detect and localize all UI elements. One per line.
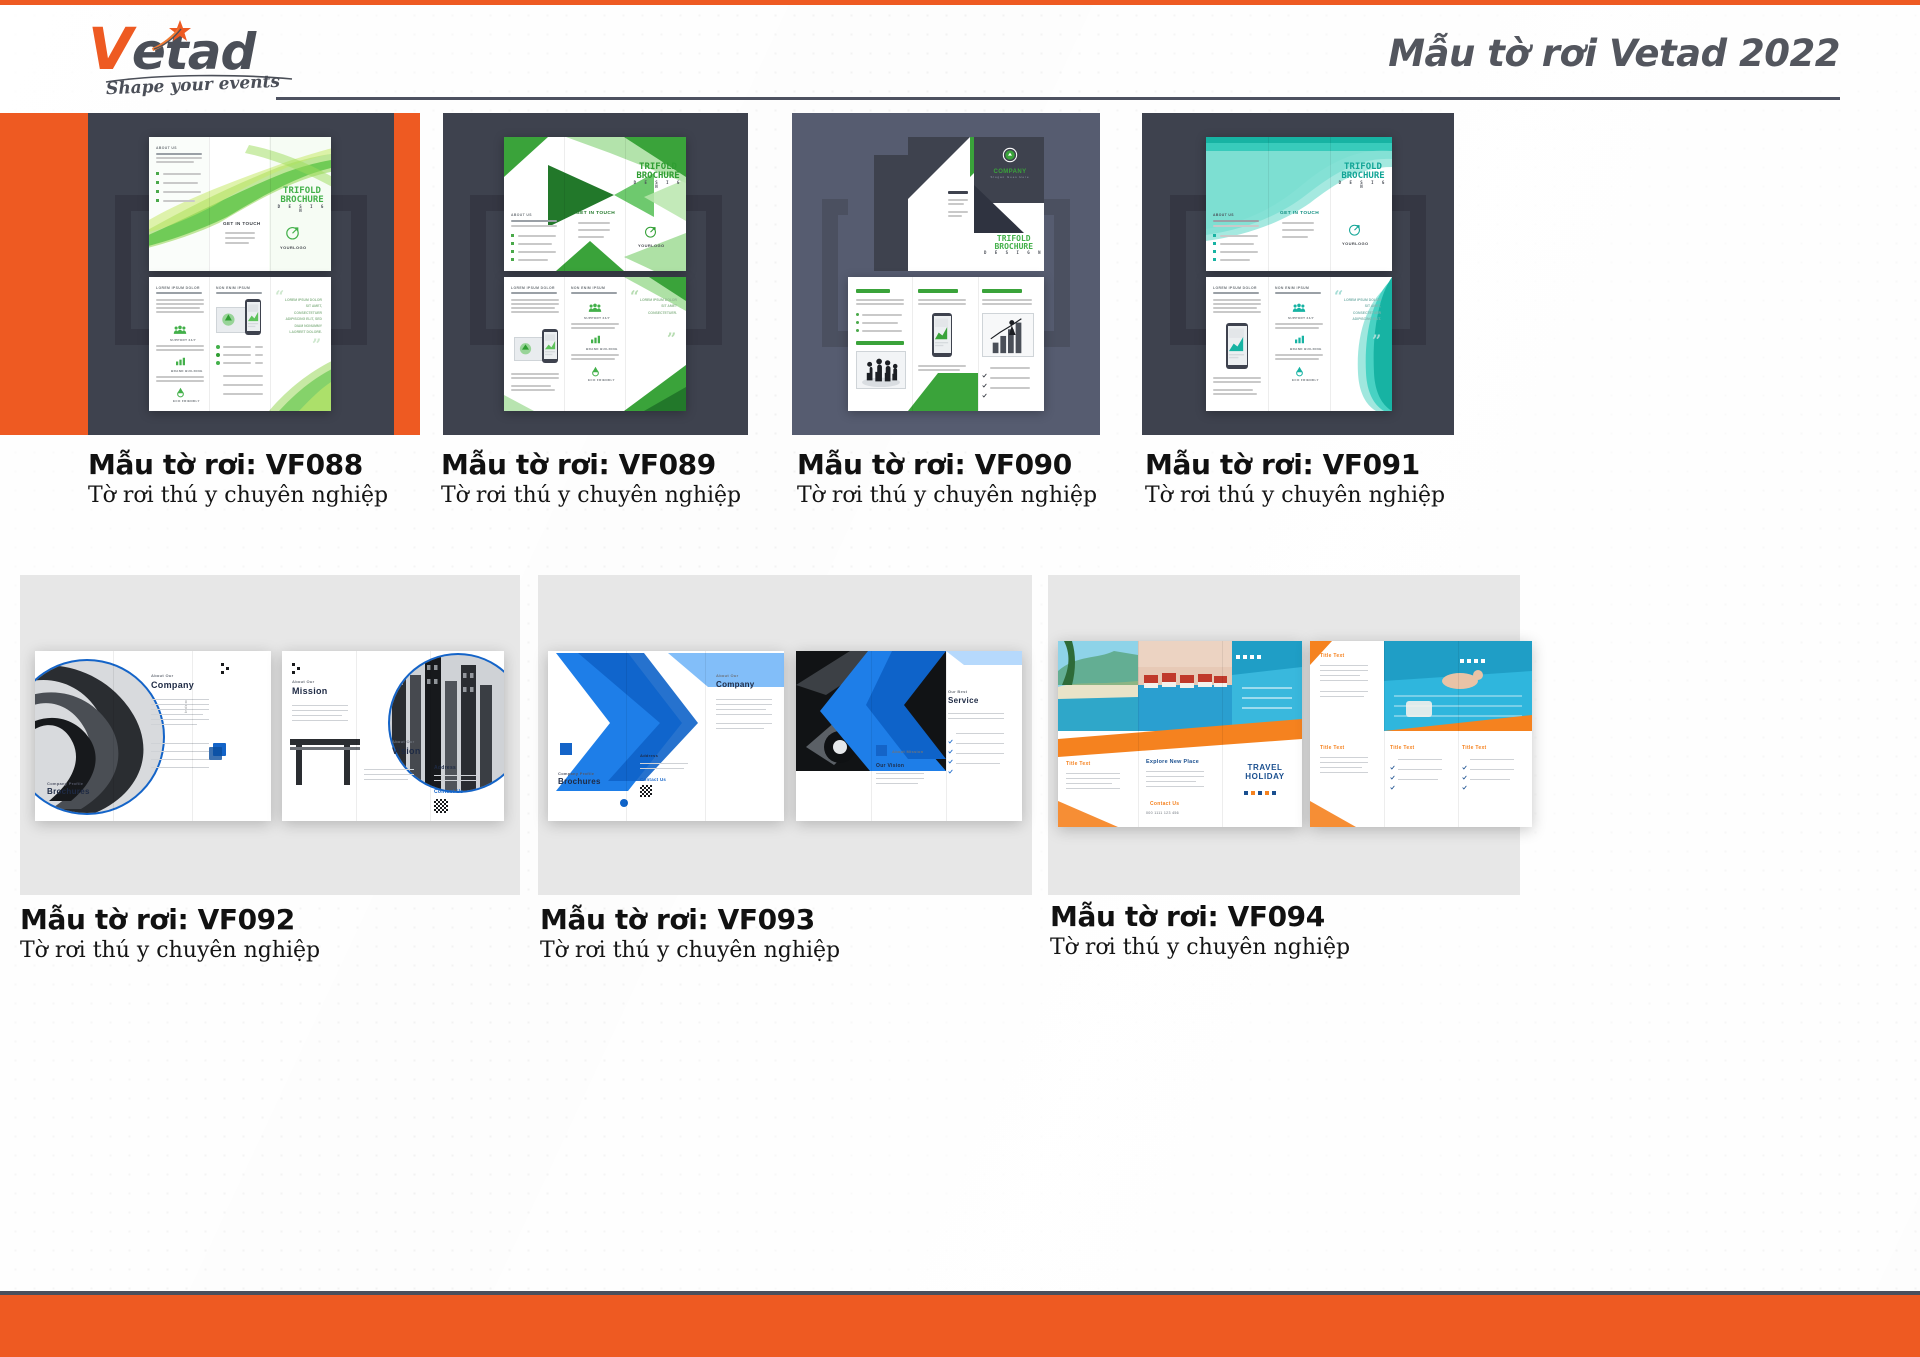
mission-label: About Mission [892, 749, 923, 754]
phone-mockup [932, 313, 952, 357]
brochure-left-spread: Title Text Explore New Place Contact Us … [1058, 641, 1302, 827]
qr-code [640, 785, 652, 797]
cta-label: GET IN TOUCH [1280, 211, 1319, 216]
bar-chart-photo [982, 313, 1034, 357]
title-text-1: Title Text [1066, 761, 1091, 767]
cta-label: GET IN TOUCH [223, 221, 261, 226]
page-title: Mẫu tờ rơi Vetad 2022 [1388, 32, 1840, 75]
brochure-front-sheet: ABOUT US TRIFOLD BROCHURE D E S I G N GE… [149, 137, 331, 271]
card-code: Mẫu tờ rơi: VF092 [20, 903, 320, 936]
company-heading: Company [716, 680, 755, 689]
check-icon [1390, 785, 1395, 790]
vision-heading: Our Vision [876, 763, 904, 769]
travel-photo-art [1058, 641, 1302, 827]
target-arrow-icon [285, 225, 300, 240]
vision-heading: Vision [392, 746, 421, 756]
card-code: Mẫu tờ rơi: VF088 [88, 448, 388, 481]
card-code: Mẫu tờ rơi: VF093 [540, 903, 840, 936]
company-slogan: Slogan Goes Here [990, 175, 1030, 179]
profile-top-label: Company Profile [47, 781, 83, 786]
brochure-right-spread: Our Best Service Our Vision About Missio… [796, 651, 1022, 821]
blue-icon-block [876, 745, 887, 756]
label-vf093: Mẫu tờ rơi: VF093 Tờ rơi thú y chuyên ng… [540, 903, 840, 963]
profile-top-label: Company Profile [558, 771, 594, 776]
team-icon [173, 325, 187, 335]
team-icon [588, 303, 602, 313]
mission-heading: Mission [292, 686, 328, 696]
quote-text: LOREM IPSUM DOLOR SIT AMET, CONSECTETUER… [282, 297, 322, 336]
title-text-b: Title Text [1320, 745, 1345, 751]
brochure-title: TRIFOLD BROCHURE D E S I G N [630, 163, 686, 190]
brochure-right-spread: Title Text Title Text Title Text Title T… [1310, 641, 1532, 827]
company-logo: COMPANY Slogan Goes Here [990, 147, 1030, 179]
dot-row-top-right [1460, 659, 1485, 663]
contact-heading: Contact Us [434, 789, 463, 795]
title-text-c: Title Text [1390, 745, 1415, 751]
brochure-logo-text: YOURLOGO [280, 245, 307, 250]
logo-letter-v: V [88, 15, 132, 83]
brochure-front-sheet: ABOUT US GET IN TOUCH TRIFOLD BROCHURE D… [1206, 137, 1392, 271]
explore-heading: Explore New Place [1146, 759, 1199, 765]
growth-chart-icon [175, 357, 186, 366]
title-text-d: Title Text [1462, 745, 1487, 751]
card-code: Mẫu tờ rơi: VF089 [441, 448, 741, 481]
blue-arrow-photo-art [796, 651, 1022, 821]
brochure-right-spread: About Our Mission About Our Vision Addre… [282, 651, 504, 821]
travel-holiday-block: TRAVEL HOLIDAY [1236, 763, 1294, 781]
bw-circle-photo-art-right [282, 651, 504, 821]
quote-close-mark: ” [1372, 335, 1381, 346]
back-left-heading: LOREM IPSUM DOLOR [511, 286, 555, 290]
recycle-icon [590, 366, 601, 377]
company-circle-icon [1002, 147, 1018, 163]
card-code: Mẫu tờ rơi: VF091 [1145, 448, 1445, 481]
back-mid-heading: NON ENIM IPSUM [571, 286, 605, 290]
quote-close-mark: ” [312, 339, 321, 350]
growth-chart-icon [1294, 335, 1305, 344]
profile-bottom-label: Brochures [558, 777, 601, 786]
card-desc: Tờ rơi thú y chuyên nghiệp [441, 483, 741, 508]
target-arrow-icon [1348, 223, 1361, 236]
top-card-row: ABOUT US TRIFOLD BROCHURE D E S I G N GE… [0, 113, 1920, 443]
about-our-label: About Our [292, 679, 314, 684]
qr-code [434, 799, 448, 813]
recycle-icon [1294, 366, 1305, 377]
card-desc: Tờ rơi thú y chuyên nghiệp [1145, 483, 1445, 508]
brochure-left-spread: Company Profile Brochures Address Contac… [548, 651, 784, 821]
brochure-back-sheet: LOREM IPSUM DOLOR NON ENIM IPSUM [504, 277, 686, 411]
vetad-logo: Vetad Shape your events [88, 22, 303, 106]
card-code: Mẫu tờ rơi: VF094 [1050, 900, 1350, 933]
brochure-front-sheet: COMPANY Slogan Goes Here TRIFOLD BROCHUR… [848, 137, 1044, 271]
recycle-icon [175, 387, 186, 398]
about-our-label: About Our [151, 673, 173, 678]
check-icon [982, 393, 987, 398]
blue-icon-block [560, 743, 572, 755]
check-icon [948, 769, 953, 774]
label-vf091: Mẫu tờ rơi: VF091 Tờ rơi thú y chuyên ng… [1145, 448, 1445, 508]
blue-chevron-art [548, 651, 784, 821]
brochure-front-sheet: ABOUT US GET IN TOUCH TRIFOLD BROCHURE D… [504, 137, 686, 271]
card-desc: Tờ rơi thú y chuyên nghiệp [1050, 935, 1350, 960]
quote-text: LOREM IPSUM DOLOR SIT AMET, CONSECTETUER… [1341, 297, 1381, 323]
label-vf094: Mẫu tờ rơi: VF094 Tờ rơi thú y chuyên ng… [1050, 900, 1350, 960]
card-desc: Tờ rơi thú y chuyên nghiệp [88, 483, 388, 508]
title-text-a: Title Text [1320, 653, 1345, 659]
address-heading: Address [640, 753, 658, 758]
label-vf089: Mẫu tờ rơi: VF089 Tờ rơi thú y chuyên ng… [441, 448, 741, 508]
best-label: Our Best [948, 689, 967, 694]
contact-heading: Contact Us [1150, 801, 1179, 807]
card-vf093[interactable]: Company Profile Brochures Address Contac… [538, 575, 1032, 895]
card-vf094[interactable]: Title Text Explore New Place Contact Us … [1048, 575, 1520, 895]
about-heading: ABOUT US [156, 146, 177, 150]
company-heading: Company [151, 680, 194, 690]
brochure-title: TRIFOLD BROCHURE D E S I G N [273, 187, 331, 214]
phone-mockup [245, 299, 261, 335]
check-icon [1462, 785, 1467, 790]
card-desc: Tờ rơi thú y chuyên nghiệp [20, 938, 320, 963]
card-vf092[interactable]: indoor Company Profile Brochures About O… [20, 575, 520, 895]
address-heading: Address [434, 765, 456, 771]
page-header: Vetad Shape your events Mẫu tờ rơi Vetad… [0, 0, 1920, 112]
business-people-photo [856, 351, 906, 389]
brochure-title: TRIFOLD BROCHURE D E S I G N [984, 235, 1044, 255]
about-our-label-2: About Our [392, 739, 414, 744]
top-orange-rule [0, 0, 1920, 5]
creative-vertical-label: indoor [183, 699, 188, 713]
label-vf090: Mẫu tờ rơi: VF090 Tờ rơi thú y chuyên ng… [797, 448, 1097, 508]
back-left-heading: LOREM IPSUM DOLOR [1213, 286, 1257, 290]
target-arrow-icon [644, 225, 657, 238]
phone-mockup [542, 329, 558, 363]
bottom-orange-band [0, 1295, 1920, 1357]
quote-close-mark: ” [667, 333, 676, 344]
back-left-heading: LOREM IPSUM DOLOR [156, 286, 200, 290]
quote-text: LOREM IPSUM DOLOR SIT AMET CONSECTETUER. [637, 297, 677, 316]
star-swoosh-icon [150, 18, 206, 52]
brochure-back-sheet: LOREM IPSUM DOLOR SUPPORT 24/7 BRAND BUI… [149, 277, 331, 411]
card-code: Mẫu tờ rơi: VF090 [797, 448, 1097, 481]
square-dots-icon [292, 663, 304, 675]
card-desc: Tờ rơi thú y chuyên nghiệp [540, 938, 840, 963]
square-dots-icon [221, 663, 233, 675]
service-heading: Service [948, 696, 979, 705]
back-mid-heading: NON ENIM IPSUM [216, 286, 250, 290]
phone-number: 000 1111 123 456 [1146, 811, 1179, 815]
travel-photo-art-right [1310, 641, 1532, 827]
brochure-back-sheet [848, 277, 1044, 411]
brochure-title: TRIFOLD BROCHURE D E S I G N [1334, 163, 1392, 190]
about-our-label: About Our [716, 673, 738, 678]
brochure-logo-text: YOURLOGO [1342, 241, 1369, 246]
brochure-logo-text: YOURLOGO [638, 243, 665, 248]
brochure-left-spread: indoor Company Profile Brochures About O… [35, 651, 271, 821]
brochure-back-sheet: LOREM IPSUM DOLOR NON ENIM IPSUM SUPPORT… [1206, 277, 1392, 411]
growth-chart-icon [590, 335, 601, 344]
label-vf088: Mẫu tờ rơi: VF088 Tờ rơi thú y chuyên ng… [88, 448, 388, 508]
blue-icon-block-shadow [209, 747, 222, 760]
card-desc: Tờ rơi thú y chuyên nghiệp [797, 483, 1097, 508]
bottom-card-row: indoor Company Profile Brochures About O… [0, 575, 1920, 895]
profile-bottom-label: Brochures [47, 787, 90, 796]
dot-row-top [1236, 655, 1261, 659]
about-heading: ABOUT US [1213, 213, 1234, 217]
contact-heading: Contact Us [640, 777, 666, 782]
dot-row [1244, 791, 1276, 795]
cta-label: GET IN TOUCH [576, 211, 615, 216]
back-mid-heading: NON ENIM IPSUM [1275, 286, 1309, 290]
about-heading: ABOUT US [511, 213, 532, 217]
phone-mockup [1226, 323, 1248, 369]
team-icon [1292, 303, 1306, 313]
label-vf092: Mẫu tờ rơi: VF092 Tờ rơi thú y chuyên ng… [20, 903, 320, 963]
header-divider [276, 97, 1840, 100]
